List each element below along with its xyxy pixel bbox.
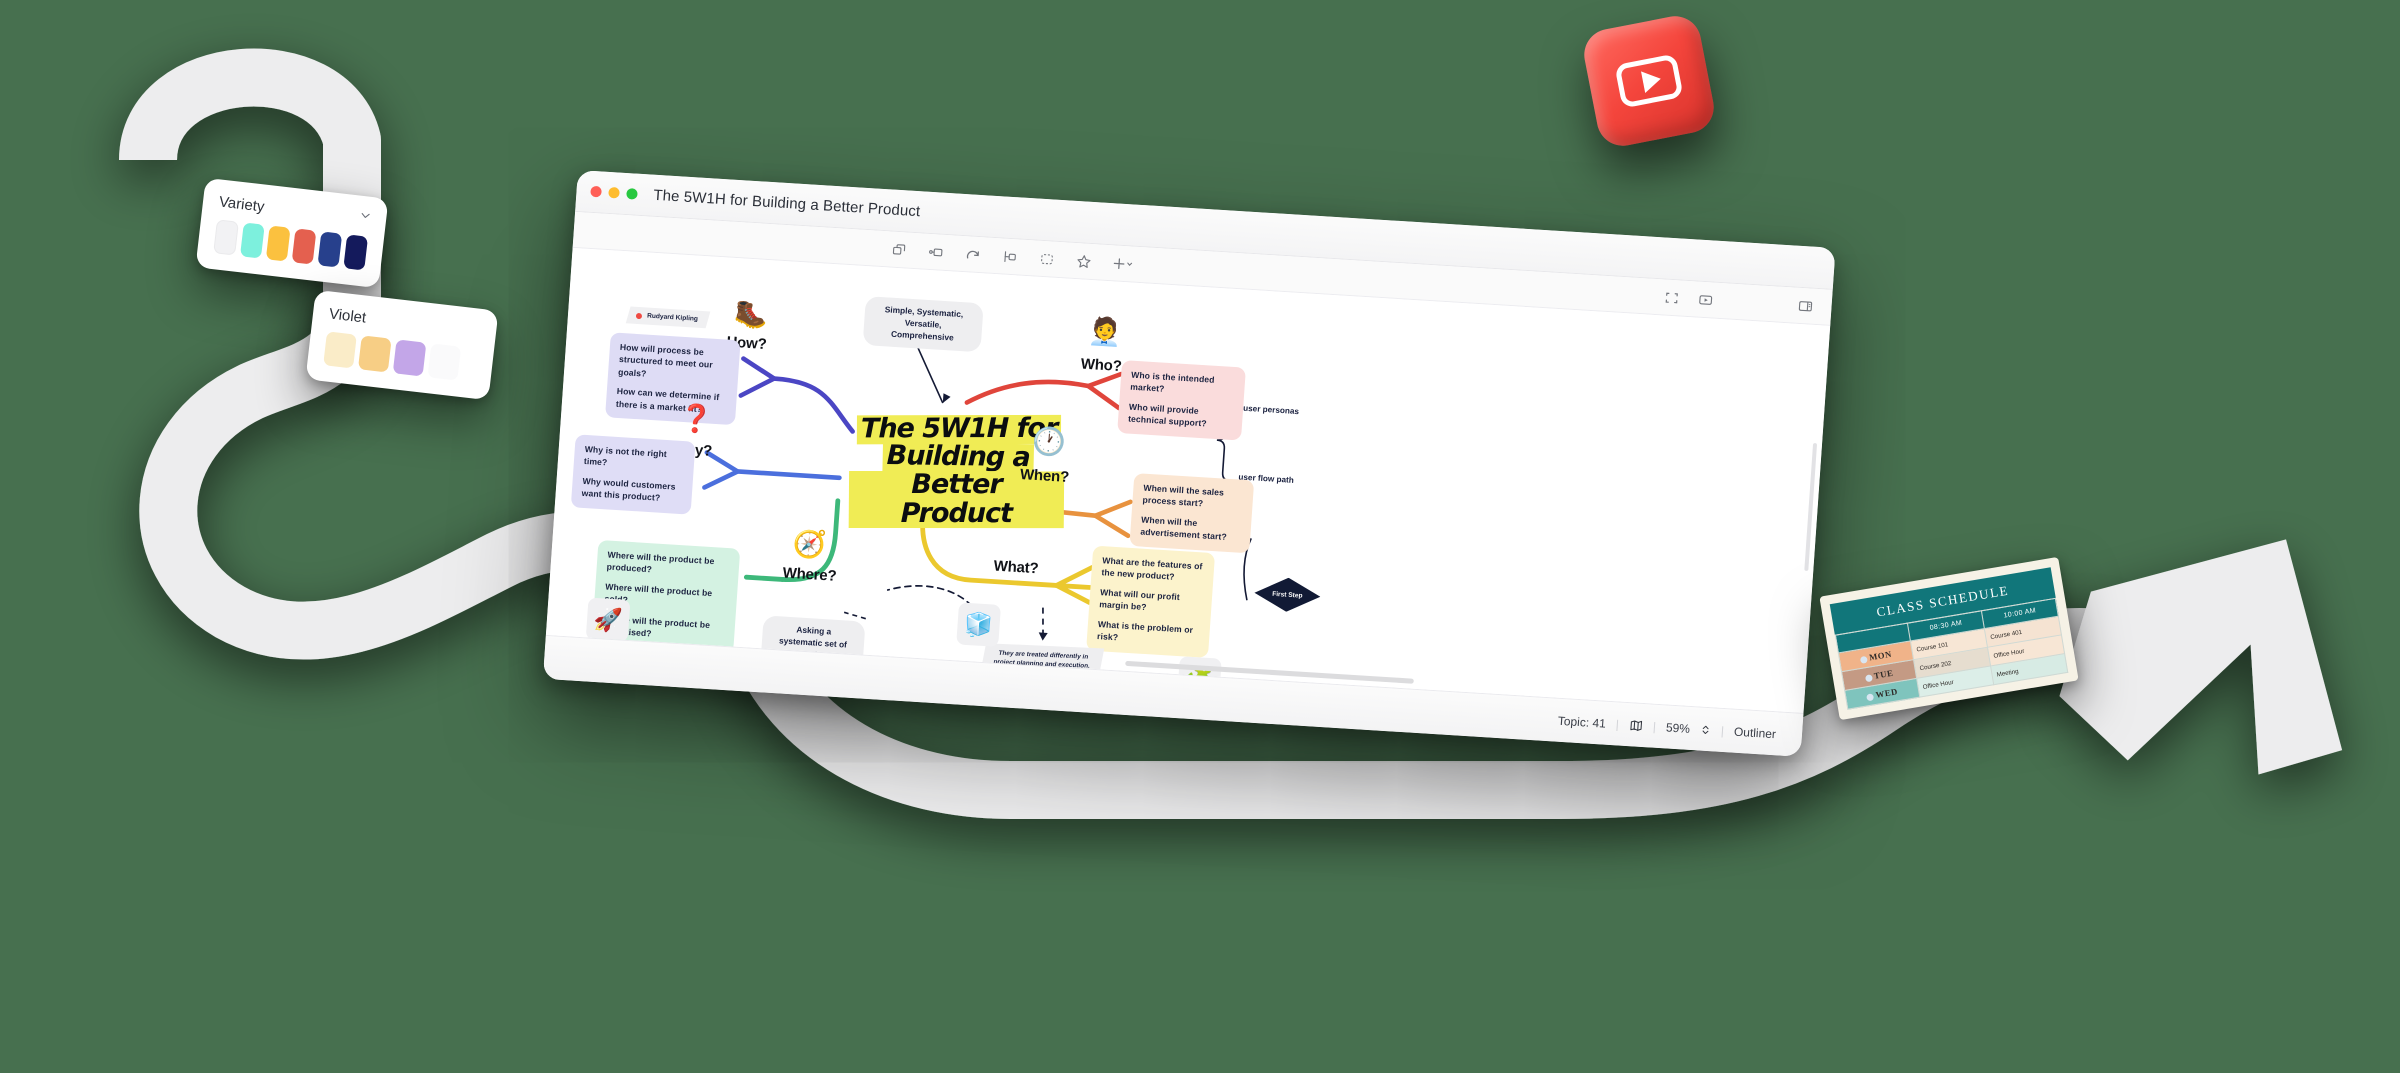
- swatch-0[interactable]: [323, 331, 357, 368]
- statusbar-divider-2: |: [1652, 719, 1656, 733]
- node-why-item-0: Why is not the right time?: [583, 443, 685, 474]
- compass-icon: 🧭: [792, 530, 827, 559]
- window-title: The 5W1H for Building a Better Product: [653, 187, 921, 221]
- class-schedule-card[interactable]: CLASS SCHEDULE 08:30 AM 10:00 AM MON Cou…: [1819, 557, 2078, 720]
- screenshot-stage: Rudyard Kipling The 5W1H for Building a …: [0, 0, 2400, 1073]
- palette-card-variety[interactable]: Variety: [195, 178, 388, 289]
- kipling-dot-icon: [636, 312, 642, 318]
- youtube-screen-shape: [1614, 53, 1683, 108]
- swatch-4[interactable]: [317, 231, 342, 267]
- play-triangle-icon: [1641, 68, 1663, 93]
- node-who-item-0: Who is the intended market?: [1130, 369, 1236, 400]
- node-what-item-0: What are the features of the new product…: [1101, 554, 1205, 585]
- branch-label-who[interactable]: Who?: [1080, 356, 1122, 375]
- center-title-line-2: Building a: [882, 442, 1034, 473]
- question-bubble-icon: ❓: [678, 405, 713, 434]
- swatch-3[interactable]: [291, 228, 316, 264]
- clock-icon: 🕐: [1031, 428, 1066, 457]
- branch-label-where[interactable]: Where?: [782, 564, 837, 584]
- node-what-item-1: What will our profit margin be?: [1099, 586, 1203, 617]
- insert-child-icon[interactable]: [1002, 248, 1019, 265]
- person-icon: 🧑‍💼: [1087, 318, 1122, 347]
- swatch-0[interactable]: [213, 219, 238, 255]
- swatch-5[interactable]: [343, 234, 368, 270]
- tagline-pill[interactable]: Simple, Systematic, Versatile, Comprehen…: [863, 296, 984, 352]
- first-step-label: First Step: [1272, 590, 1303, 599]
- insert-sibling-icon[interactable]: [928, 243, 945, 260]
- cubes-sticker[interactable]: 🧊: [956, 602, 1001, 647]
- swatch-3[interactable]: [427, 343, 461, 380]
- redo-icon[interactable]: [965, 246, 982, 263]
- close-button[interactable]: [590, 186, 602, 198]
- swatch-1[interactable]: [358, 335, 392, 372]
- node-who[interactable]: Who is the intended market? Who will pro…: [1117, 360, 1246, 440]
- day-dot-icon: [1860, 655, 1868, 663]
- presentation-icon[interactable]: [1697, 291, 1714, 308]
- swatch-2[interactable]: [393, 339, 427, 376]
- node-who-item-1: Who will provide technical support?: [1128, 400, 1234, 431]
- node-what-item-2: What is the problem or risk?: [1097, 618, 1201, 649]
- node-what[interactable]: What are the features of the new product…: [1086, 546, 1215, 658]
- day-dot-icon: [1866, 693, 1874, 701]
- zoom-button[interactable]: [626, 188, 638, 200]
- palette-card-violet[interactable]: Violet: [305, 290, 498, 401]
- chevron-down-icon[interactable]: [358, 208, 374, 224]
- minimize-button[interactable]: [608, 187, 620, 199]
- topic-count: Topic: 41: [1557, 713, 1606, 730]
- outliner-button[interactable]: Outliner: [1734, 724, 1777, 741]
- duplicate-icon[interactable]: [891, 241, 908, 258]
- branch-label-what[interactable]: What?: [993, 558, 1039, 578]
- swatch-row-variety[interactable]: [213, 219, 368, 270]
- boundary-icon[interactable]: [1038, 250, 1055, 267]
- app-window: The 5W1H for Building a Better Product: [543, 170, 1836, 757]
- branch-label-when[interactable]: When?: [1019, 466, 1069, 486]
- kipling-tag-label: Rudyard Kipling: [647, 313, 698, 323]
- statusbar-divider-3: |: [1720, 723, 1724, 737]
- hiker-icon: 🥾: [734, 300, 769, 329]
- fullscreen-icon[interactable]: [1663, 289, 1680, 306]
- node-when-item-1: When will the advertisement start?: [1140, 513, 1242, 544]
- zoom-level[interactable]: 59%: [1666, 720, 1691, 735]
- node-why-item-1: Why would customers want this product?: [581, 475, 683, 506]
- node-how[interactable]: How will process be structured to meet o…: [605, 332, 741, 425]
- day-dot-icon: [1865, 674, 1873, 682]
- up-down-stepper-icon[interactable]: [1699, 722, 1711, 737]
- swatch-2[interactable]: [266, 225, 291, 261]
- swatch-row-violet[interactable]: [323, 331, 478, 382]
- statusbar-divider-1: |: [1615, 717, 1619, 731]
- node-why[interactable]: Why is not the right time? Why would cus…: [571, 434, 696, 514]
- add-icon[interactable]: [1112, 255, 1135, 272]
- youtube-play-cube-icon[interactable]: [1580, 12, 1718, 150]
- node-when-item-0: When will the sales process start?: [1142, 482, 1244, 513]
- node-how-item-0: How will process be structured to meet o…: [618, 341, 730, 385]
- traffic-lights[interactable]: [590, 186, 638, 200]
- book-map-icon[interactable]: [1628, 718, 1643, 733]
- node-where-item-0: Where will the product be produced?: [606, 549, 729, 581]
- right-sidebar-icon[interactable]: [1797, 297, 1814, 314]
- star-icon[interactable]: [1075, 253, 1092, 270]
- swatch-1[interactable]: [240, 222, 265, 258]
- node-when[interactable]: When will the sales process start? When …: [1129, 473, 1254, 553]
